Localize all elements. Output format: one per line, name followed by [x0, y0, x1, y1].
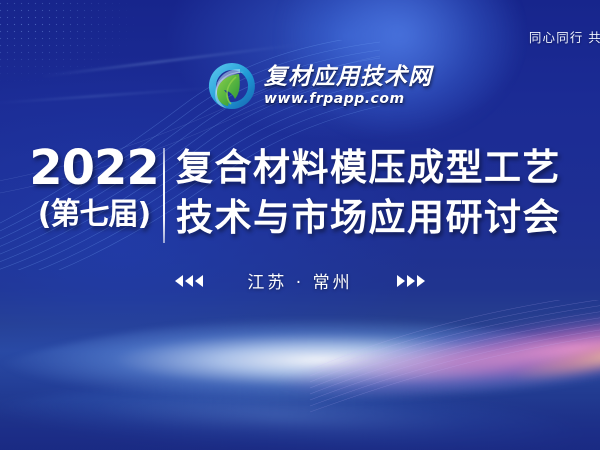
location-label: 江苏 · 常州 — [247, 268, 352, 293]
title-block: 2022 (第七届) 复合材料模压成型工艺 技术与市场应用研讨会 — [0, 143, 600, 248]
poster-tagline: 同心同行 共 — [529, 27, 600, 46]
right-arrows-icon — [397, 275, 425, 287]
left-arrows-icon — [175, 275, 203, 287]
dot-matrix-decoration — [0, 0, 170, 120]
bottom-aurora-decoration — [0, 300, 600, 450]
conference-poster: 同心同行 共 复材应用技术网 — [0, 0, 600, 450]
year-label: 2022 — [28, 143, 160, 193]
logo-site-name: 复材应用技术网 — [264, 66, 432, 89]
location-row: 江苏 · 常州 — [0, 268, 600, 293]
main-title: 复合材料模压成型工艺 技术与市场应用研讨会 — [176, 143, 561, 243]
year-edition-column: 2022 (第七届) — [28, 143, 160, 237]
logo-text-group: 复材应用技术网 www.frpapp.com — [264, 66, 432, 106]
edition-label: (第七届) — [28, 193, 160, 237]
swirl-leaf-logo-icon — [206, 60, 258, 112]
main-title-line-2: 技术与市场应用研讨会 — [176, 193, 561, 243]
logo-site-url: www.frpapp.com — [264, 92, 432, 106]
main-title-line-1: 复合材料模压成型工艺 — [176, 143, 561, 193]
arc-bottom-fade — [0, 400, 600, 450]
site-logo[interactable]: 复材应用技术网 www.frpapp.com — [206, 60, 432, 112]
title-divider — [163, 148, 165, 243]
